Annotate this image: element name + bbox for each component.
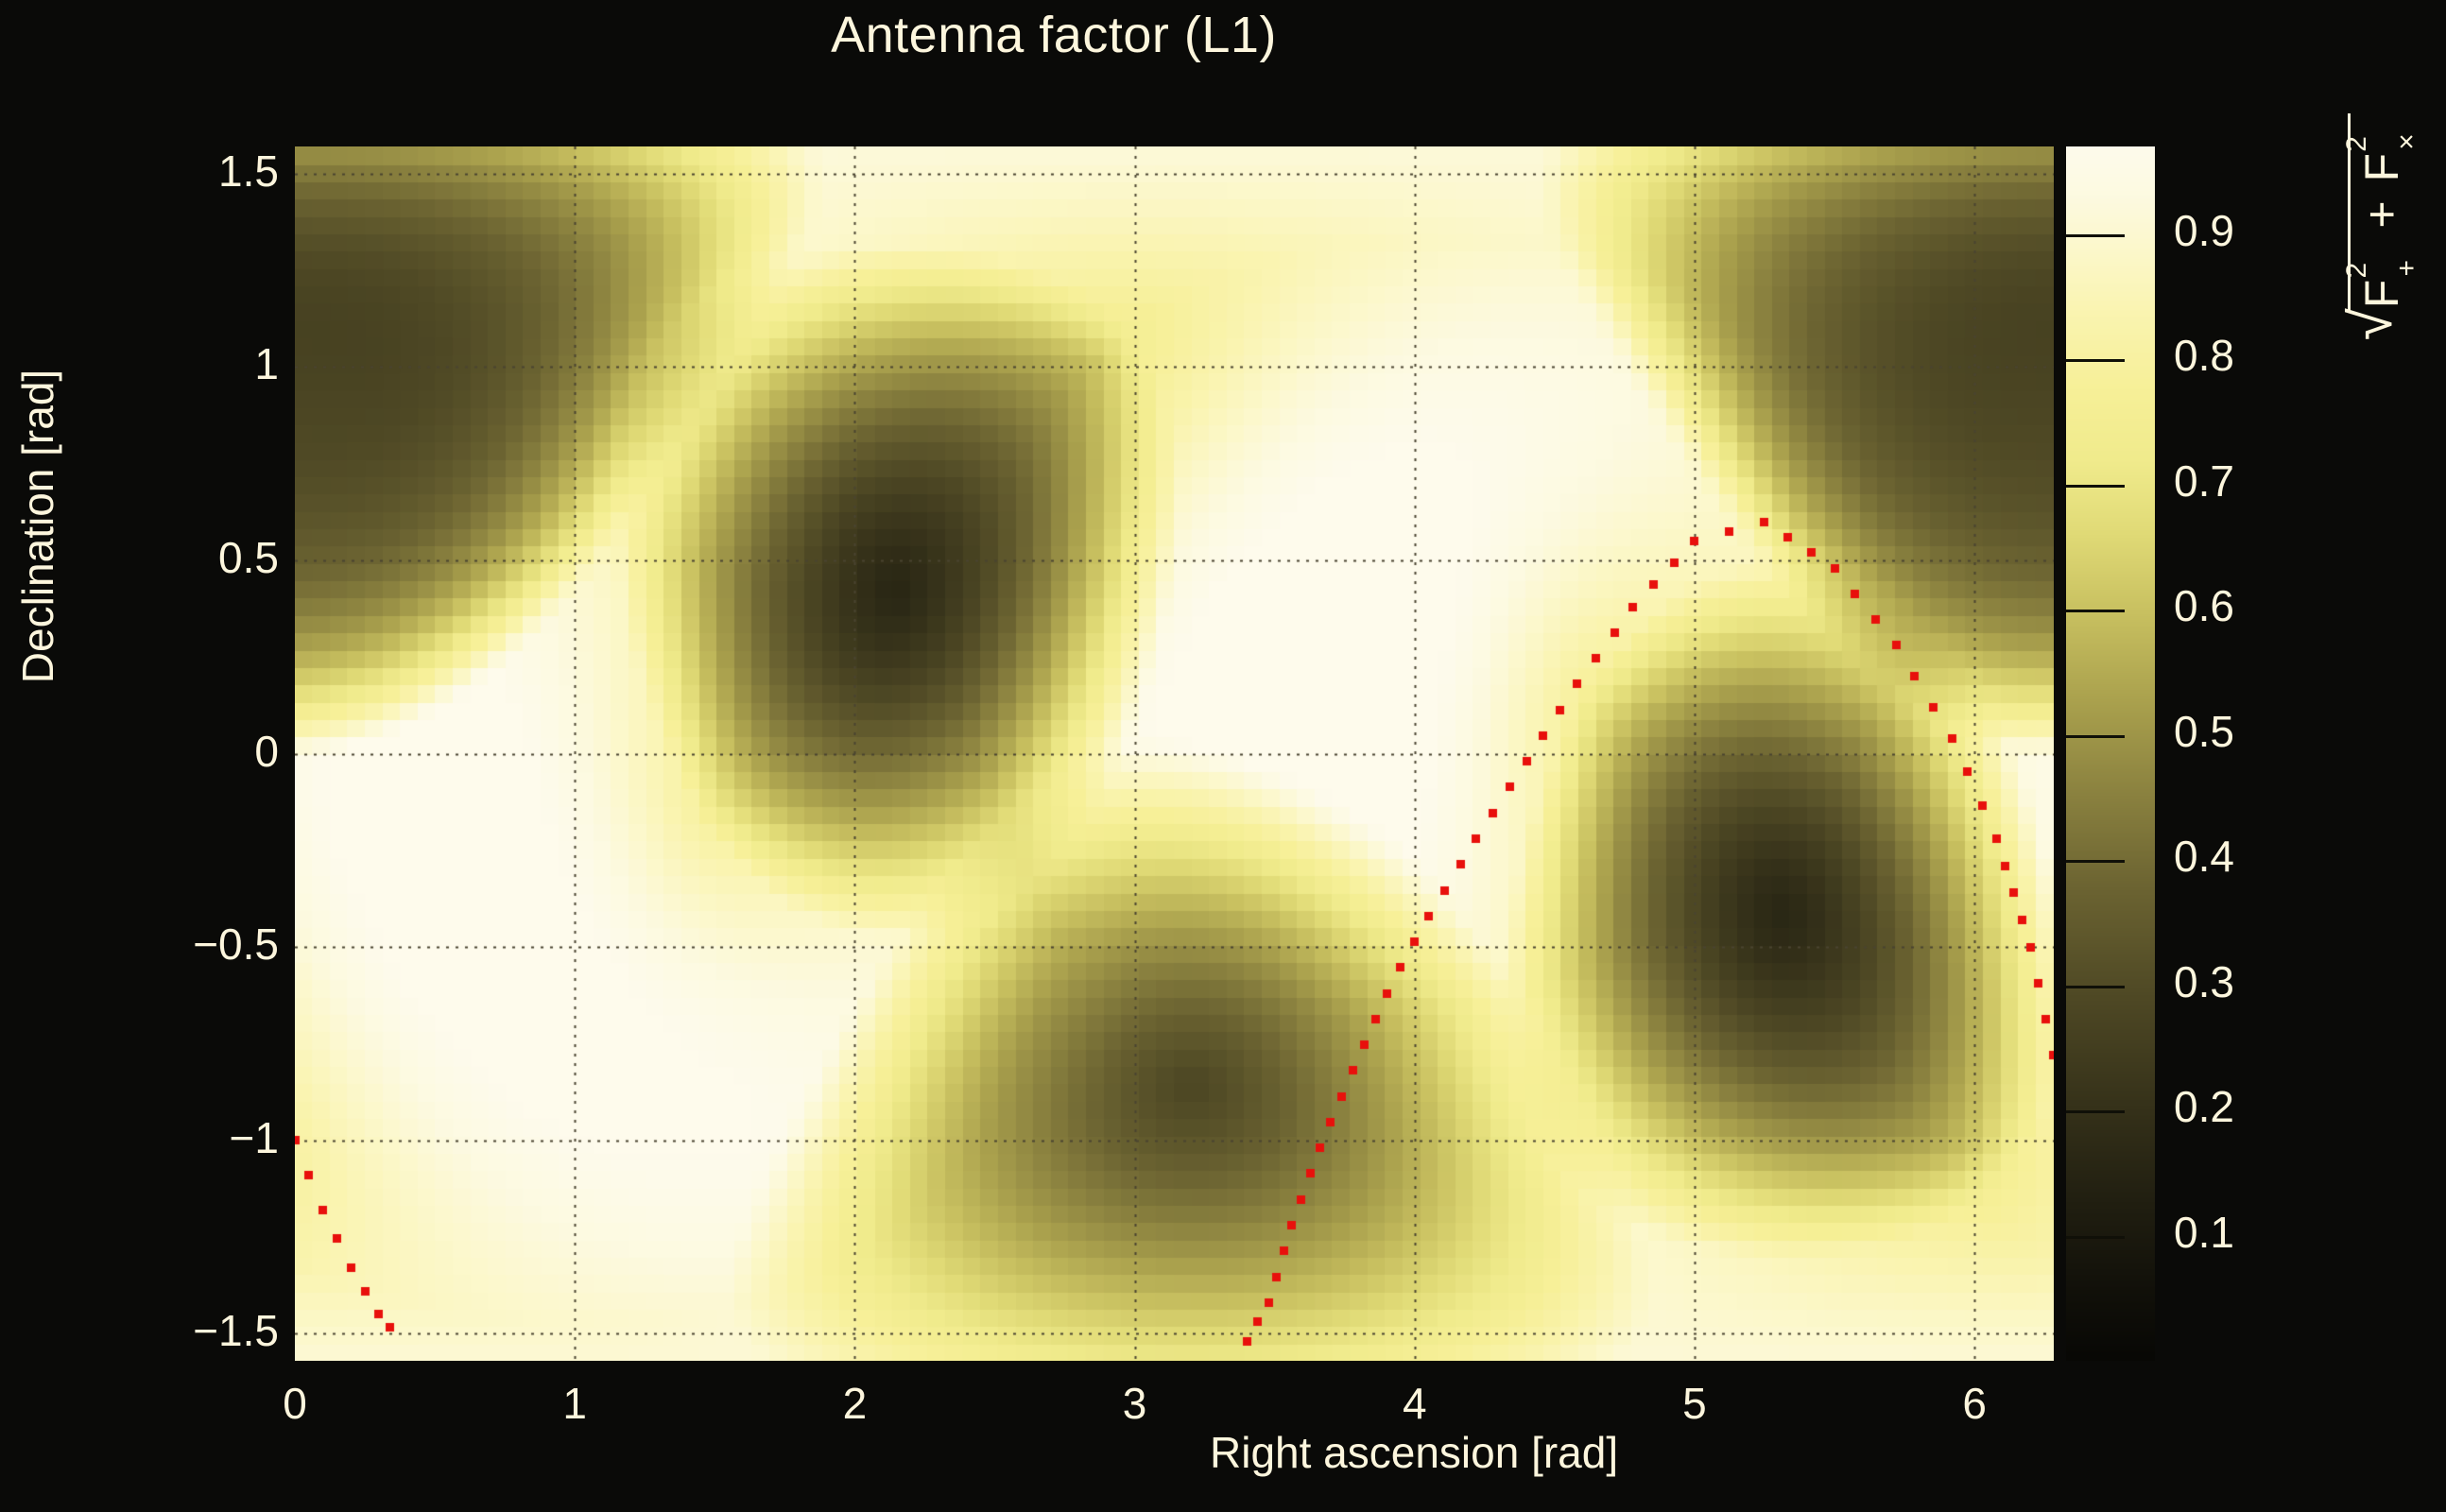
y-tick-label: 1 xyxy=(254,342,279,386)
color-bar-tick-label: 0.9 xyxy=(2174,209,2234,252)
color-bar-tick-mark xyxy=(2066,1110,2125,1113)
sqrt-expression: √ F2+ + F2× xyxy=(2348,113,2416,341)
color-bar-tick-mark xyxy=(2066,735,2125,738)
radical-icon: √ xyxy=(2348,308,2416,340)
x-tick-label: 5 xyxy=(1638,1382,1751,1425)
chart-canvas-root: Antenna factor (L1) Declination [rad] 1.… xyxy=(0,0,2446,1512)
color-bar-tick-mark xyxy=(2066,1236,2125,1239)
x-tick-label: 1 xyxy=(518,1382,631,1425)
color-bar-tick-mark xyxy=(2066,359,2125,362)
color-bar-tick-label: 0.7 xyxy=(2174,459,2234,503)
y-axis-title: Declination [rad] xyxy=(12,328,63,725)
f-cross-subscript: × xyxy=(2391,133,2422,150)
color-bar-tick-mark xyxy=(2066,234,2125,237)
y-tick-label: −1.5 xyxy=(193,1309,279,1352)
color-bar-tick-label: 0.1 xyxy=(2174,1211,2234,1254)
x-tick-label: 6 xyxy=(1918,1382,2031,1425)
color-bar-tick-label: 0.4 xyxy=(2174,834,2234,878)
heatmap-plot-area xyxy=(295,146,2054,1361)
x-axis-title: Right ascension [rad] xyxy=(1210,1427,1618,1478)
color-bar-title: √ F2+ + F2× xyxy=(2231,85,2446,369)
x-tick-label: 0 xyxy=(238,1382,352,1425)
x-tick-label: 4 xyxy=(1358,1382,1472,1425)
x-tick-label: 3 xyxy=(1078,1382,1192,1425)
f-plus-term: F2+ xyxy=(2354,248,2416,309)
plus-operator: + xyxy=(2355,200,2408,228)
color-bar-tick-mark xyxy=(2066,860,2125,863)
chart-title: Antenna factor (L1) xyxy=(0,6,2108,64)
f-plus-subscript: + xyxy=(2391,260,2422,277)
y-tick-label: 1.5 xyxy=(218,149,279,193)
color-bar-tick-label: 0.3 xyxy=(2174,960,2234,1004)
y-tick-label: 0.5 xyxy=(218,536,279,579)
f-cross-base: F xyxy=(2355,153,2408,182)
color-bar-tick-label: 0.6 xyxy=(2174,584,2234,627)
radicand: F2+ + F2× xyxy=(2348,113,2416,313)
f-cross-term: F2× xyxy=(2354,121,2416,182)
grid-and-curve-overlay xyxy=(295,146,2054,1361)
y-tick-label: 0 xyxy=(254,730,279,773)
f-plus-exponent: 2 xyxy=(2341,263,2372,279)
color-bar xyxy=(2066,146,2155,1361)
color-bar-tick-mark xyxy=(2066,485,2125,488)
y-tick-label: −0.5 xyxy=(193,922,279,966)
x-tick-label: 2 xyxy=(798,1382,911,1425)
f-plus-base: F xyxy=(2355,280,2408,309)
color-bar-tick-label: 0.8 xyxy=(2174,334,2234,377)
f-cross-exponent: 2 xyxy=(2341,136,2372,152)
color-bar-gradient xyxy=(2066,146,2155,1361)
color-bar-tick-label: 0.5 xyxy=(2174,710,2234,753)
color-bar-tick-mark xyxy=(2066,610,2125,612)
color-bar-tick-mark xyxy=(2066,986,2125,988)
y-tick-label: −1 xyxy=(230,1116,279,1160)
color-bar-tick-label: 0.2 xyxy=(2174,1085,2234,1128)
